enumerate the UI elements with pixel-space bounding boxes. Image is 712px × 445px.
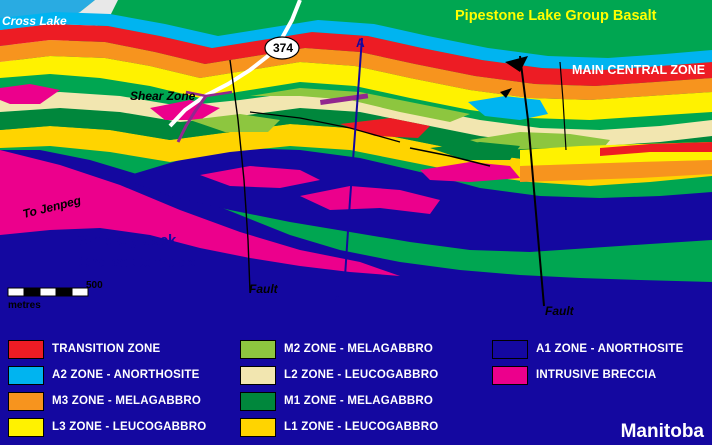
legend-item[interactable]: TRANSITION ZONE [8,338,206,360]
scale-bar [8,288,88,296]
legend-swatch [8,340,44,359]
legend-swatch [8,392,44,411]
legend-swatch [492,366,528,385]
legend-label: L2 ZONE - LEUCOGABBRO [284,369,438,381]
legend-label: M3 ZONE - MELAGABBRO [52,395,201,407]
legend-label: M1 ZONE - MELAGABBRO [284,395,433,407]
label-section-a: A [356,36,365,50]
province-label: Manitoba [621,421,704,443]
label-section-a-prime: A' [334,292,346,306]
label-scale-units: metres [8,300,41,311]
legend-item[interactable]: M2 ZONE - MELAGABBRO [240,338,438,360]
label-whiskey-jack-line2: Gneiss Complex [78,254,196,271]
label-shear-zone: Shear Zone [130,89,195,103]
legend-label: M2 ZONE - MELAGABBRO [284,343,433,355]
legend-swatch [240,366,276,385]
legend-column-3: A1 ZONE - ANORTHOSITE INTRUSIVE BRECCIA [492,338,684,390]
legend-label: TRANSITION ZONE [52,343,160,355]
label-pipestone-lake-group-basalt: Pipestone Lake Group Basalt [455,8,656,24]
legend-item[interactable]: L3 ZONE - LEUCOGABBRO [8,416,206,438]
label-scale-value: 500 [86,280,103,291]
legend-item[interactable]: A1 ZONE - ANORTHOSITE [492,338,684,360]
legend-swatch [8,366,44,385]
geologic-map: Cross Lake Pipestone Lake Group Basalt M… [0,0,712,445]
label-highway-374: 374 [272,41,294,55]
legend-label: L1 ZONE - LEUCOGABBRO [284,421,438,433]
legend-swatch [492,340,528,359]
label-main-central-zone: MAIN CENTRAL ZONE [572,63,705,77]
legend-label: L3 ZONE - LEUCOGABBRO [52,421,206,433]
legend-column-2: M2 ZONE - MELAGABBRO L2 ZONE - LEUCOGABB… [240,338,438,442]
legend-swatch [8,418,44,437]
legend-label: A1 ZONE - ANORTHOSITE [536,343,684,355]
legend-item[interactable]: M3 ZONE - MELAGABBRO [8,390,206,412]
legend-swatch [240,340,276,359]
legend-label: A2 ZONE - ANORTHOSITE [52,369,200,381]
legend-panel: TRANSITION ZONE A2 ZONE - ANORTHOSITE M3… [0,330,712,445]
label-whiskey-jack-line1: Whiskey Jack [78,232,176,249]
legend-item[interactable]: A2 ZONE - ANORTHOSITE [8,364,206,386]
legend-label: INTRUSIVE BRECCIA [536,369,656,381]
legend-item[interactable]: M1 ZONE - MELAGABBRO [240,390,438,412]
legend-swatch [240,392,276,411]
legend-item[interactable]: INTRUSIVE BRECCIA [492,364,684,386]
label-fault-left: Fault [249,282,278,296]
legend-swatch [240,418,276,437]
legend-column-1: TRANSITION ZONE A2 ZONE - ANORTHOSITE M3… [8,338,206,442]
legend-item[interactable]: L1 ZONE - LEUCOGABBRO [240,416,438,438]
legend-item[interactable]: L2 ZONE - LEUCOGABBRO [240,364,438,386]
label-fault-right: Fault [545,304,574,318]
label-cross-lake: Cross Lake [2,14,67,28]
